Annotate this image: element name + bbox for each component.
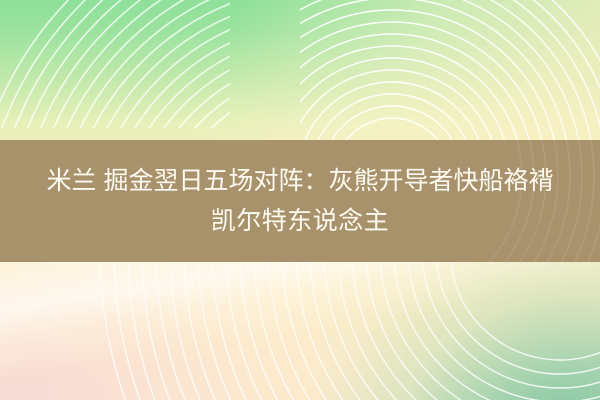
article-banner: 米兰 掘金翌日五场对阵：灰熊开导者快船袼褙 凯尔特东说念主 xyxy=(0,0,600,400)
title-line-1: 米兰 掘金翌日五场对阵：灰熊开导者快船袼褙 xyxy=(47,161,554,201)
title-line-2: 凯尔特东说念主 xyxy=(211,201,390,241)
banner-title: 米兰 掘金翌日五场对阵：灰熊开导者快船袼褙 凯尔特东说念主 xyxy=(0,140,600,262)
